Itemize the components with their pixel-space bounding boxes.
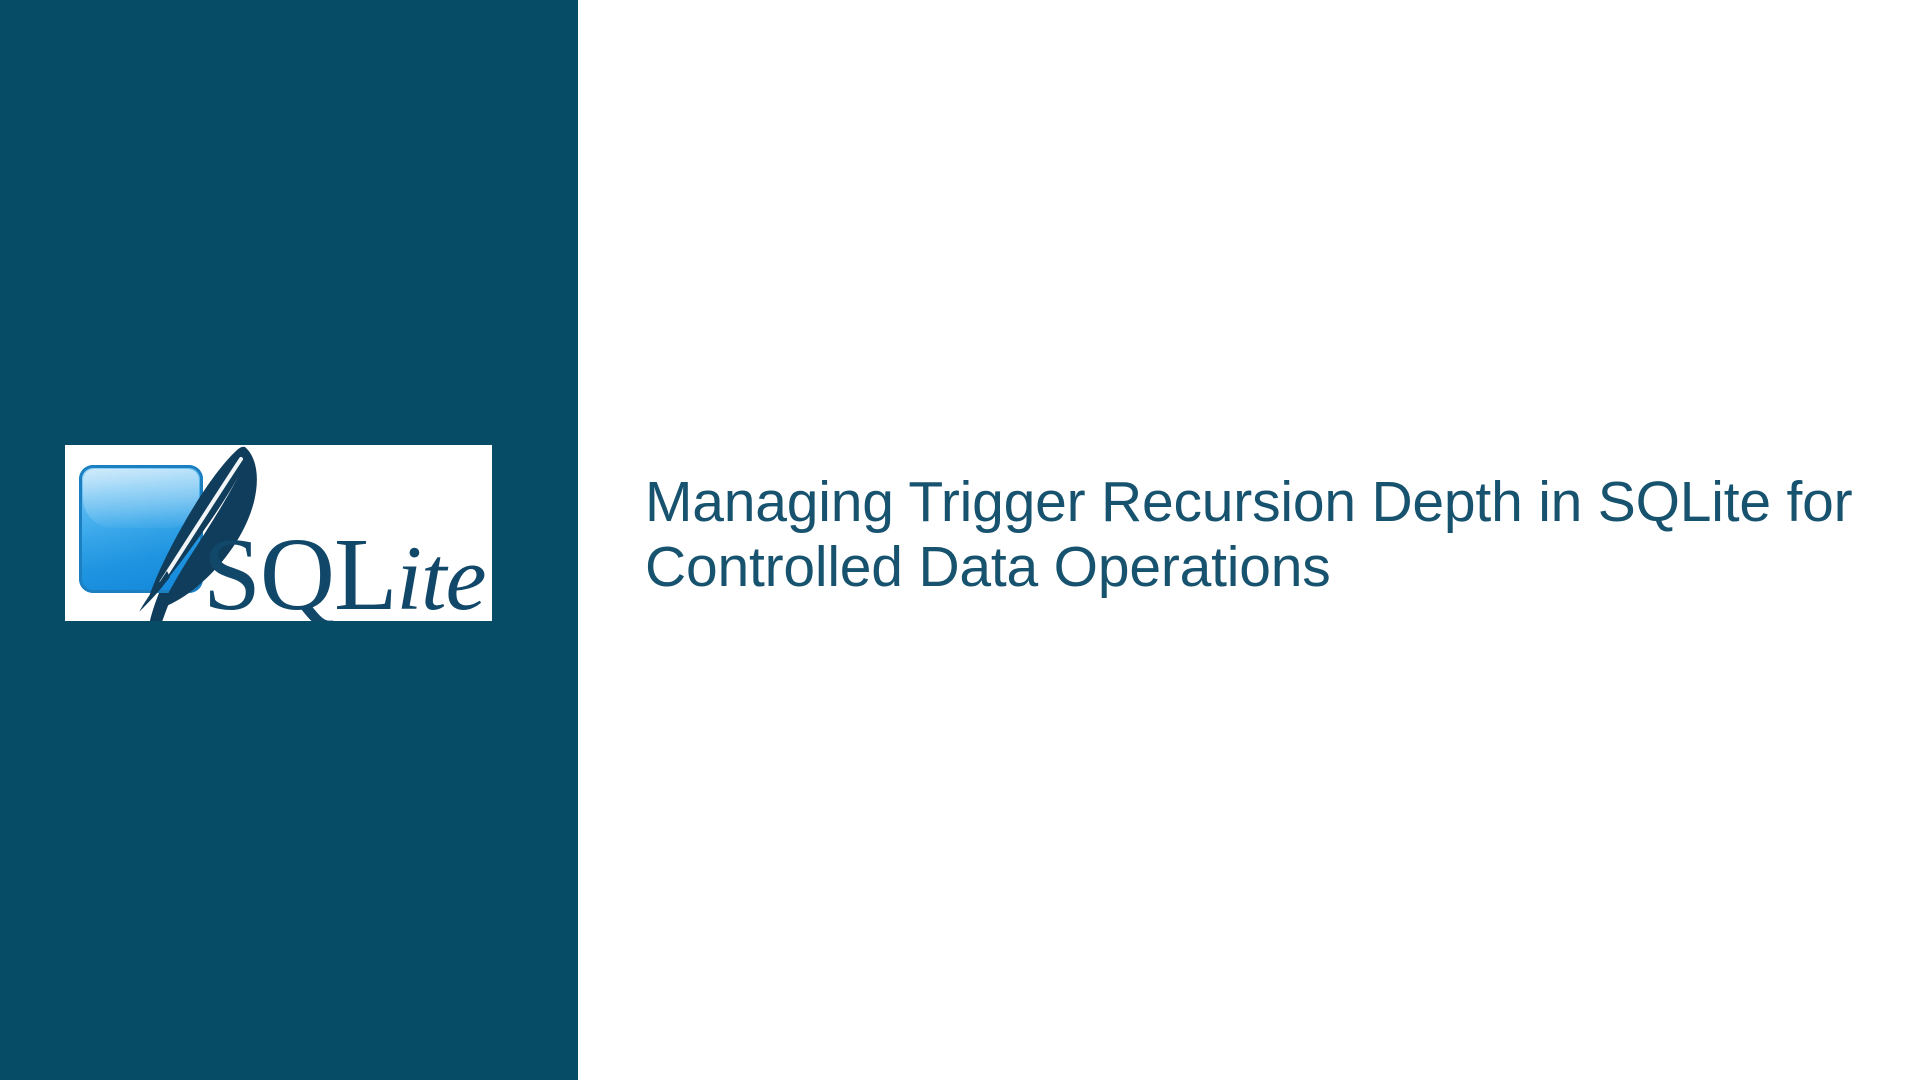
title-slide: SQLite Managing Trigger Recursion Depth … bbox=[0, 0, 1920, 1080]
logo-wordmark: SQLite bbox=[203, 523, 485, 621]
logo-wordmark-sq: SQL bbox=[203, 517, 396, 621]
sqlite-logo: SQLite bbox=[65, 445, 492, 621]
logo-wordmark-ite: ite bbox=[396, 527, 485, 621]
sqlite-logo-inner: SQLite bbox=[65, 445, 492, 621]
slide-title: Managing Trigger Recursion Depth in SQLi… bbox=[645, 470, 1875, 600]
